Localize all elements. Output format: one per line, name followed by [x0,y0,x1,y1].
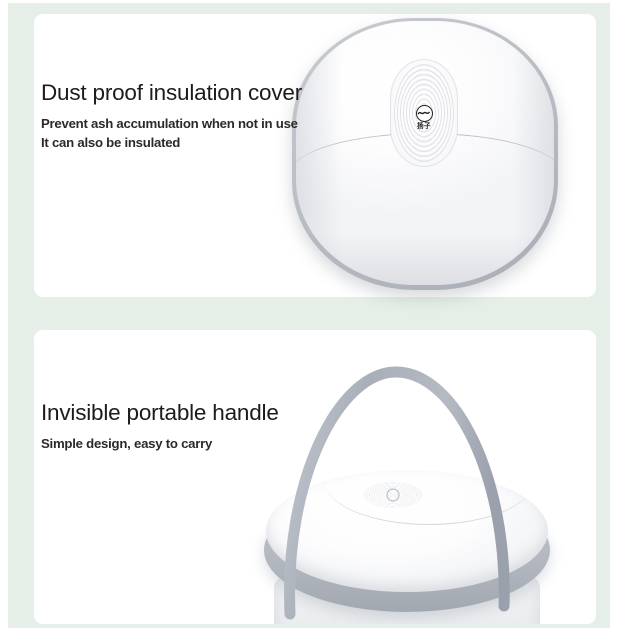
cover-logo-panel: 扬子 [390,59,458,167]
subline-dust-cover-1: Prevent ash accumulation when not in use [41,115,302,134]
carry-handle-icon [280,362,512,624]
feature-text-portable-handle: Invisible portable handle Simple design,… [41,400,279,454]
product-image-dust-cover: 扬子 [292,18,558,290]
circle-wave-logo-icon [416,105,433,122]
headline-dust-cover: Dust proof insulation cover [41,80,302,106]
shell-shadow-bottom [296,233,554,285]
product-image-portable-handle [246,358,596,624]
headline-portable-handle: Invisible portable handle [41,400,279,426]
brand-name-text: 扬子 [401,124,447,131]
brand-logo: 扬子 [401,105,447,131]
feature-text-dust-cover: Dust proof insulation cover Prevent ash … [41,80,302,152]
product-feature-page: 扬子 Dust proof insulation cover Prevent a… [0,0,631,631]
subline-dust-cover-2: It can also be insulated [41,134,302,153]
cover-top-shell: 扬子 [296,21,554,285]
subline-portable-handle-1: Simple design, easy to carry [41,435,279,454]
